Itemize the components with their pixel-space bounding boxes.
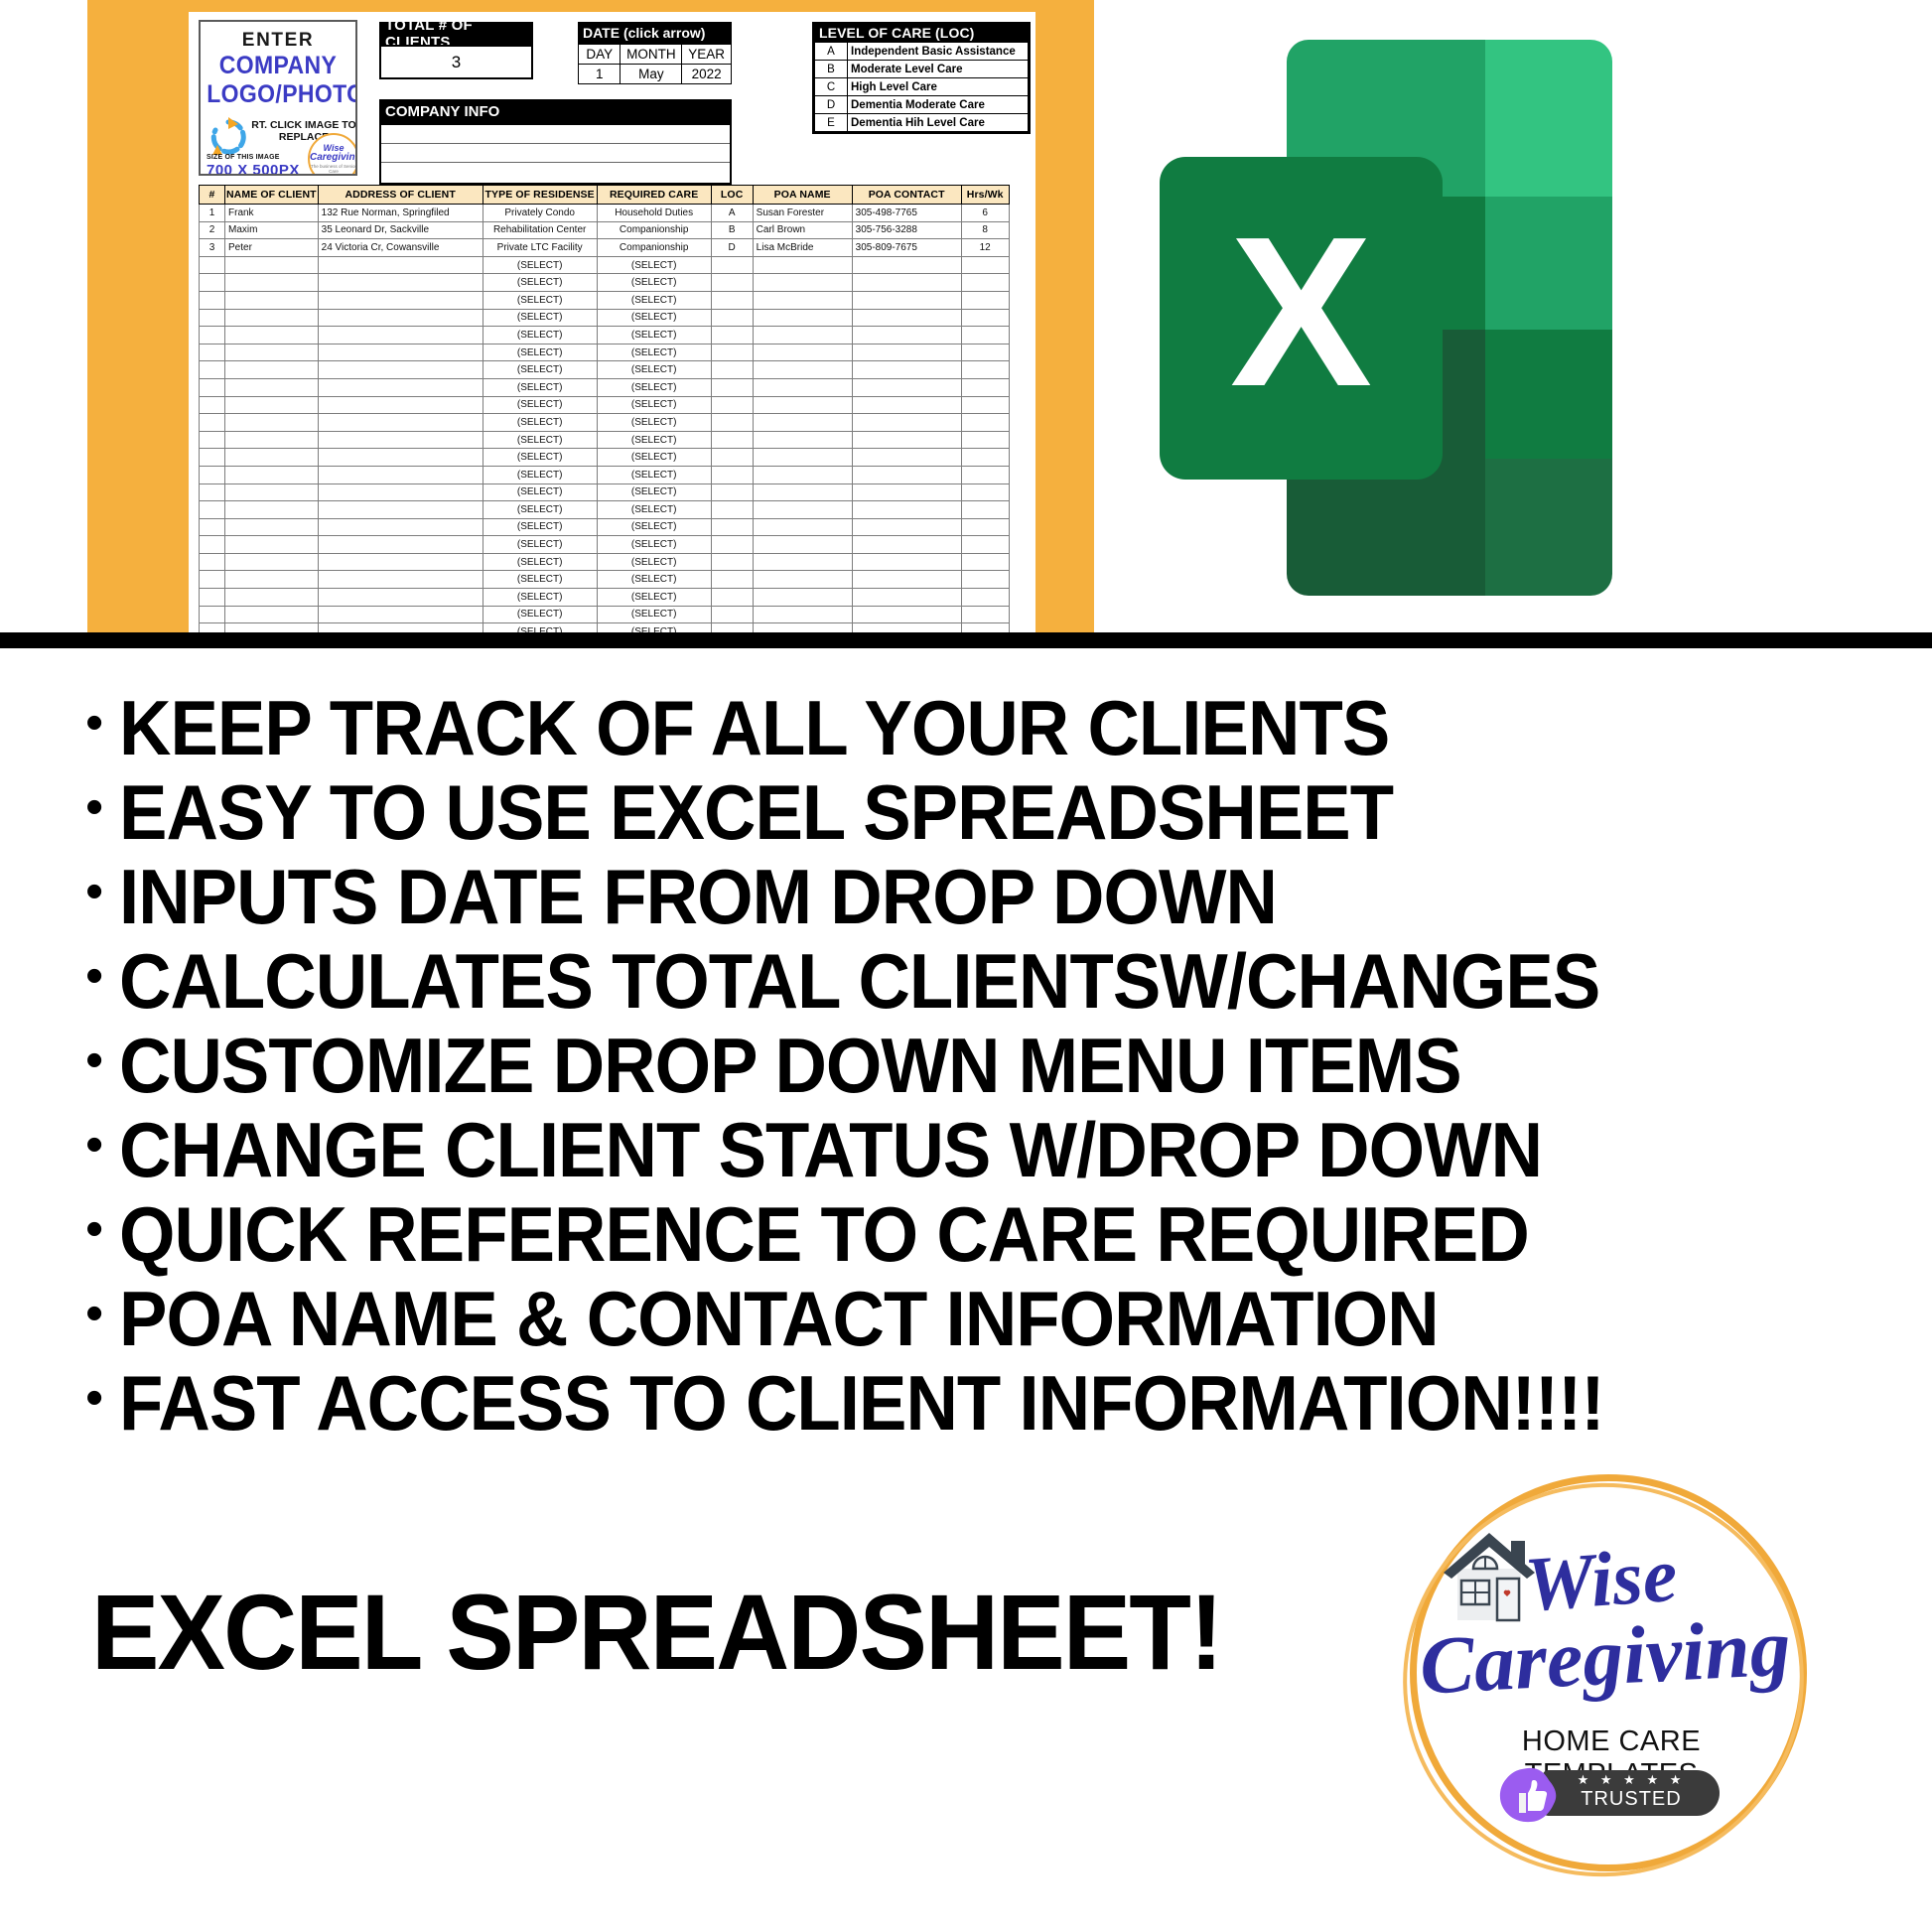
client-row-empty[interactable]: (SELECT)(SELECT) xyxy=(200,606,1010,623)
client-cell-empty[interactable] xyxy=(200,449,225,467)
client-cell-empty[interactable] xyxy=(753,291,852,309)
client-cell-select[interactable]: (SELECT) xyxy=(483,466,597,483)
client-cell-empty[interactable] xyxy=(200,344,225,361)
client-cell-empty[interactable] xyxy=(711,344,753,361)
bullet-marker-icon: • xyxy=(85,950,103,1002)
client-cell[interactable]: 35 Leonard Dr, Sackville xyxy=(318,221,483,239)
feature-bullet-text: EASY TO USE EXCEL SPREADSHEET xyxy=(119,773,1393,851)
client-cell-empty[interactable] xyxy=(753,256,852,274)
client-cell-select[interactable]: (SELECT) xyxy=(483,361,597,379)
client-cell-select[interactable]: (SELECT) xyxy=(597,431,711,449)
client-cell-select[interactable]: (SELECT) xyxy=(483,291,597,309)
company-info-header: COMPANY INFO xyxy=(379,99,732,123)
client-cell-empty[interactable] xyxy=(318,431,483,449)
client-cell-empty[interactable] xyxy=(961,449,1009,467)
client-cell-empty[interactable] xyxy=(711,483,753,501)
client-row-empty[interactable]: (SELECT)(SELECT) xyxy=(200,396,1010,414)
thumbs-up-icon xyxy=(1497,1767,1559,1823)
client-cell-empty[interactable] xyxy=(711,361,753,379)
client-cell-empty[interactable] xyxy=(318,309,483,327)
client-cell-empty[interactable] xyxy=(753,589,852,607)
client-cell-select[interactable]: (SELECT) xyxy=(483,606,597,623)
mini-brand-seal: Wise Caregiving The business of Senior C… xyxy=(308,133,357,176)
client-cell-empty[interactable] xyxy=(961,501,1009,519)
client-cell[interactable]: D xyxy=(711,239,753,257)
trusted-bar: ★ ★ ★ ★ ★ TRUSTED xyxy=(1543,1770,1720,1816)
client-cell[interactable]: Companionship xyxy=(597,239,711,257)
client-cell-empty[interactable] xyxy=(318,501,483,519)
client-cell-empty[interactable] xyxy=(225,327,319,345)
client-cell[interactable]: Rehabilitation Center xyxy=(483,221,597,239)
client-cell-select[interactable]: (SELECT) xyxy=(483,344,597,361)
client-cell-select[interactable]: (SELECT) xyxy=(483,378,597,396)
client-cell-select[interactable]: (SELECT) xyxy=(597,361,711,379)
bullet-marker-icon: • xyxy=(85,781,103,833)
total-clients-header: TOTAL # OF CLIENTS xyxy=(379,22,533,45)
client-cell[interactable]: Privately Condo xyxy=(483,205,597,222)
client-row-empty[interactable]: (SELECT)(SELECT) xyxy=(200,291,1010,309)
client-cell-empty[interactable] xyxy=(200,553,225,571)
bullet-marker-icon: • xyxy=(85,1035,103,1086)
client-cell-empty[interactable] xyxy=(961,309,1009,327)
client-cell-empty[interactable] xyxy=(318,396,483,414)
client-cell-select[interactable]: (SELECT) xyxy=(597,327,711,345)
client-cell-empty[interactable] xyxy=(753,449,852,467)
client-cell-select[interactable]: (SELECT) xyxy=(597,344,711,361)
client-cell-empty[interactable] xyxy=(318,571,483,589)
client-row[interactable]: 2Maxim35 Leonard Dr, SackvilleRehabilita… xyxy=(200,221,1010,239)
company-logo-placeholder[interactable]: ENTER COMPANY LOGO/PHOTO RT. CLICK IMAGE… xyxy=(199,20,357,176)
client-cell-select[interactable]: (SELECT) xyxy=(597,396,711,414)
client-cell-empty[interactable] xyxy=(961,378,1009,396)
client-cell-empty[interactable] xyxy=(961,344,1009,361)
client-cell-select[interactable]: (SELECT) xyxy=(483,571,597,589)
company-info-row[interactable] xyxy=(381,125,730,144)
client-cell-select[interactable]: (SELECT) xyxy=(483,553,597,571)
client-cell-empty[interactable] xyxy=(852,536,961,554)
client-row-empty[interactable]: (SELECT)(SELECT) xyxy=(200,327,1010,345)
client-cell[interactable]: Carl Brown xyxy=(753,221,852,239)
client-cell-select[interactable]: (SELECT) xyxy=(483,536,597,554)
client-cell-empty[interactable] xyxy=(200,571,225,589)
date-value-year[interactable]: 2022 xyxy=(682,65,732,84)
client-row[interactable]: 3Peter24 Victoria Cr, CowansvillePrivate… xyxy=(200,239,1010,257)
client-cell-select[interactable]: (SELECT) xyxy=(597,483,711,501)
date-panel-header: DATE (click arrow) xyxy=(578,22,732,44)
client-cell-select[interactable]: (SELECT) xyxy=(597,466,711,483)
client-cell[interactable]: 24 Victoria Cr, Cowansville xyxy=(318,239,483,257)
feature-bullet-text: INPUTS DATE FROM DROP DOWN xyxy=(119,858,1277,935)
client-cell-empty[interactable] xyxy=(200,327,225,345)
client-cell[interactable]: A xyxy=(711,205,753,222)
client-cell-empty[interactable] xyxy=(200,378,225,396)
client-cell-select[interactable]: (SELECT) xyxy=(483,431,597,449)
mini-seal-tagline: The business of Senior Care xyxy=(310,165,357,175)
date-value-day[interactable]: 1 xyxy=(579,65,621,84)
client-cell-empty[interactable] xyxy=(225,571,319,589)
client-cell-empty[interactable] xyxy=(318,466,483,483)
client-row-empty[interactable]: (SELECT)(SELECT) xyxy=(200,378,1010,396)
client-row-empty[interactable]: (SELECT)(SELECT) xyxy=(200,571,1010,589)
client-cell-select[interactable]: (SELECT) xyxy=(483,256,597,274)
date-value-month[interactable]: May xyxy=(621,65,682,84)
client-cell[interactable]: Companionship xyxy=(597,221,711,239)
client-cell-select[interactable]: (SELECT) xyxy=(597,501,711,519)
client-cell-empty[interactable] xyxy=(711,256,753,274)
excel-icon: X xyxy=(1160,40,1612,596)
client-cell-empty[interactable] xyxy=(961,431,1009,449)
client-cell-select[interactable]: (SELECT) xyxy=(597,291,711,309)
client-cell-empty[interactable] xyxy=(961,274,1009,292)
client-cell-empty[interactable] xyxy=(961,518,1009,536)
client-cell-empty[interactable] xyxy=(200,274,225,292)
client-row-empty[interactable]: (SELECT)(SELECT) xyxy=(200,431,1010,449)
client-cell-select[interactable]: (SELECT) xyxy=(483,501,597,519)
client-cell-empty[interactable] xyxy=(711,589,753,607)
client-cell-empty[interactable] xyxy=(852,431,961,449)
client-cell-empty[interactable] xyxy=(711,291,753,309)
client-cell-empty[interactable] xyxy=(318,553,483,571)
client-cell-empty[interactable] xyxy=(200,466,225,483)
client-cell-empty[interactable] xyxy=(852,606,961,623)
client-cell-empty[interactable] xyxy=(753,466,852,483)
client-col-header: NAME OF CLIENT xyxy=(225,186,319,205)
bullet-marker-icon: • xyxy=(85,1119,103,1171)
client-cell-select[interactable]: (SELECT) xyxy=(483,327,597,345)
loc-row: CHigh Level Care xyxy=(815,78,1029,96)
client-cell-empty[interactable] xyxy=(318,606,483,623)
client-cell-empty[interactable] xyxy=(852,449,961,467)
client-row-empty[interactable]: (SELECT)(SELECT) xyxy=(200,361,1010,379)
client-cell-empty[interactable] xyxy=(225,396,319,414)
client-cell-select[interactable]: (SELECT) xyxy=(483,414,597,432)
client-cell-empty[interactable] xyxy=(852,256,961,274)
client-cell-empty[interactable] xyxy=(753,483,852,501)
client-cell-empty[interactable] xyxy=(961,466,1009,483)
client-cell-empty[interactable] xyxy=(200,414,225,432)
client-cell-empty[interactable] xyxy=(753,327,852,345)
client-row-empty[interactable]: (SELECT)(SELECT) xyxy=(200,344,1010,361)
feature-bullet-item: •EASY TO USE EXCEL SPREADSHEET xyxy=(85,769,1872,854)
client-cell-empty[interactable] xyxy=(225,414,319,432)
client-cell-empty[interactable] xyxy=(961,291,1009,309)
client-row-empty[interactable]: (SELECT)(SELECT) xyxy=(200,466,1010,483)
loc-description: Dementia Hih Level Care xyxy=(848,114,1029,132)
loc-code: E xyxy=(815,114,848,132)
client-cell[interactable]: Frank xyxy=(225,205,319,222)
client-cell[interactable]: 8 xyxy=(961,221,1009,239)
client-cell-empty[interactable] xyxy=(753,606,852,623)
client-table-header-row: #NAME OF CLIENTADDRESS OF CLIENTTYPE OF … xyxy=(200,186,1010,205)
client-cell-empty[interactable] xyxy=(753,309,852,327)
client-cell[interactable]: B xyxy=(711,221,753,239)
client-cell-empty[interactable] xyxy=(852,466,961,483)
client-cell-empty[interactable] xyxy=(961,553,1009,571)
client-cell-empty[interactable] xyxy=(852,291,961,309)
client-cell-empty[interactable] xyxy=(852,518,961,536)
client-cell-select[interactable]: (SELECT) xyxy=(483,589,597,607)
date-panel-table: DAY MONTH YEAR 1 May 2022 xyxy=(578,44,732,84)
client-cell-empty[interactable] xyxy=(318,378,483,396)
client-cell-select[interactable]: (SELECT) xyxy=(483,483,597,501)
client-cell[interactable]: 132 Rue Norman, Springfiled xyxy=(318,205,483,222)
client-cell-empty[interactable] xyxy=(711,274,753,292)
client-cell-empty[interactable] xyxy=(711,501,753,519)
excel-icon-badge: X xyxy=(1160,157,1443,480)
client-cell-empty[interactable] xyxy=(200,431,225,449)
client-cell-empty[interactable] xyxy=(225,536,319,554)
client-cell-empty[interactable] xyxy=(711,378,753,396)
logo-size-value: 700 X 500PX xyxy=(207,162,300,176)
company-info-row[interactable] xyxy=(381,144,730,163)
client-cell-empty[interactable] xyxy=(225,344,319,361)
client-cell-empty[interactable] xyxy=(318,449,483,467)
bullet-marker-icon: • xyxy=(85,1288,103,1339)
trusted-seal: ★ ★ ★ ★ ★ TRUSTED xyxy=(1497,1767,1724,1819)
feature-bullet-item: •INPUTS DATE FROM DROP DOWN xyxy=(85,854,1872,938)
client-cell-empty[interactable] xyxy=(318,274,483,292)
client-cell-select[interactable]: (SELECT) xyxy=(597,518,711,536)
client-cell-select[interactable]: (SELECT) xyxy=(597,571,711,589)
client-cell-empty[interactable] xyxy=(200,396,225,414)
client-cell-empty[interactable] xyxy=(225,256,319,274)
client-cell-empty[interactable] xyxy=(225,553,319,571)
loc-code: B xyxy=(815,61,848,78)
client-cell-empty[interactable] xyxy=(961,536,1009,554)
client-cell-empty[interactable] xyxy=(318,483,483,501)
client-cell-empty[interactable] xyxy=(318,291,483,309)
client-cell-empty[interactable] xyxy=(753,378,852,396)
client-cell[interactable]: 305-498-7765 xyxy=(852,205,961,222)
trusted-stars: ★ ★ ★ ★ ★ xyxy=(1543,1772,1720,1788)
loc-description: Dementia Moderate Care xyxy=(848,96,1029,114)
client-cell-empty[interactable] xyxy=(318,414,483,432)
badge-word-caregiving: Caregiving xyxy=(1418,1606,1792,1707)
client-cell-select[interactable]: (SELECT) xyxy=(483,518,597,536)
excel-quad-bottom-right xyxy=(1485,330,1612,459)
client-cell-empty[interactable] xyxy=(753,501,852,519)
client-cell-empty[interactable] xyxy=(753,274,852,292)
client-cell-empty[interactable] xyxy=(852,344,961,361)
client-cell-empty[interactable] xyxy=(852,414,961,432)
client-cell[interactable]: Susan Forester xyxy=(753,205,852,222)
loc-row: DDementia Moderate Care xyxy=(815,96,1029,114)
client-cell-empty[interactable] xyxy=(225,291,319,309)
client-cell-empty[interactable] xyxy=(225,466,319,483)
client-cell-empty[interactable] xyxy=(318,518,483,536)
client-cell[interactable]: 305-809-7675 xyxy=(852,239,961,257)
client-col-header: REQUIRED CARE xyxy=(597,186,711,205)
company-info-body[interactable] xyxy=(379,123,732,185)
client-cell-empty[interactable] xyxy=(961,571,1009,589)
client-cell-empty[interactable] xyxy=(961,361,1009,379)
client-cell-select[interactable]: (SELECT) xyxy=(597,536,711,554)
feature-bullet-item: •QUICK REFERENCE TO CARE REQUIRED xyxy=(85,1191,1872,1276)
client-cell-empty[interactable] xyxy=(711,431,753,449)
client-cell-empty[interactable] xyxy=(852,327,961,345)
client-cell-select[interactable]: (SELECT) xyxy=(483,274,597,292)
client-cell-empty[interactable] xyxy=(753,344,852,361)
client-cell[interactable]: 6 xyxy=(961,205,1009,222)
client-table[interactable]: #NAME OF CLIENTADDRESS OF CLIENTTYPE OF … xyxy=(199,185,1010,641)
client-cell-empty[interactable] xyxy=(225,361,319,379)
loc-description: Moderate Level Care xyxy=(848,61,1029,78)
client-cell-empty[interactable] xyxy=(225,483,319,501)
client-cell-empty[interactable] xyxy=(200,291,225,309)
client-cell-empty[interactable] xyxy=(961,589,1009,607)
client-cell-empty[interactable] xyxy=(225,589,319,607)
client-cell-empty[interactable] xyxy=(225,431,319,449)
loc-code: D xyxy=(815,96,848,114)
client-cell-select[interactable]: (SELECT) xyxy=(483,449,597,467)
client-cell-empty[interactable] xyxy=(711,449,753,467)
client-cell-empty[interactable] xyxy=(852,571,961,589)
client-cell-empty[interactable] xyxy=(852,361,961,379)
client-cell-empty[interactable] xyxy=(225,274,319,292)
date-col-day: DAY xyxy=(579,45,621,65)
client-cell-empty[interactable] xyxy=(200,361,225,379)
client-cell-empty[interactable] xyxy=(711,466,753,483)
client-cell-select[interactable]: (SELECT) xyxy=(597,378,711,396)
client-cell-empty[interactable] xyxy=(753,518,852,536)
client-col-header: TYPE OF RESIDENSE xyxy=(483,186,597,205)
client-col-header: ADDRESS OF CLIENT xyxy=(318,186,483,205)
client-cell-select[interactable]: (SELECT) xyxy=(597,309,711,327)
client-cell-empty[interactable] xyxy=(200,536,225,554)
client-cell-empty[interactable] xyxy=(961,414,1009,432)
client-cell-empty[interactable] xyxy=(318,361,483,379)
client-cell-empty[interactable] xyxy=(753,414,852,432)
client-cell-empty[interactable] xyxy=(852,501,961,519)
client-row-empty[interactable]: (SELECT)(SELECT) xyxy=(200,518,1010,536)
client-cell-empty[interactable] xyxy=(961,327,1009,345)
client-cell[interactable]: 1 xyxy=(200,205,225,222)
client-cell-empty[interactable] xyxy=(753,431,852,449)
client-cell-empty[interactable] xyxy=(753,536,852,554)
company-info-row[interactable] xyxy=(381,163,730,182)
client-cell[interactable]: Private LTC Facility xyxy=(483,239,597,257)
client-cell-empty[interactable] xyxy=(961,396,1009,414)
client-cell-empty[interactable] xyxy=(200,589,225,607)
client-row-empty[interactable]: (SELECT)(SELECT) xyxy=(200,553,1010,571)
client-cell-empty[interactable] xyxy=(711,396,753,414)
client-row-empty[interactable]: (SELECT)(SELECT) xyxy=(200,589,1010,607)
client-cell[interactable]: 12 xyxy=(961,239,1009,257)
client-cell-empty[interactable] xyxy=(225,449,319,467)
client-cell-empty[interactable] xyxy=(753,361,852,379)
logo-enter-label: ENTER xyxy=(201,31,355,50)
total-clients-value: 3 xyxy=(379,45,533,79)
client-cell-select[interactable]: (SELECT) xyxy=(597,414,711,432)
bottom-title: EXCEL SPREADSHEET! xyxy=(91,1579,1221,1686)
client-cell-empty[interactable] xyxy=(318,536,483,554)
client-cell-empty[interactable] xyxy=(961,483,1009,501)
client-cell-empty[interactable] xyxy=(318,344,483,361)
client-cell-empty[interactable] xyxy=(711,309,753,327)
client-cell-select[interactable]: (SELECT) xyxy=(597,553,711,571)
logo-photo-label: LOGO/PHOTO xyxy=(207,81,349,107)
client-cell-empty[interactable] xyxy=(318,256,483,274)
client-row-empty[interactable]: (SELECT)(SELECT) xyxy=(200,256,1010,274)
client-cell-select[interactable]: (SELECT) xyxy=(597,274,711,292)
client-cell-empty[interactable] xyxy=(200,518,225,536)
client-cell-empty[interactable] xyxy=(961,256,1009,274)
client-cell-empty[interactable] xyxy=(852,483,961,501)
client-cell-empty[interactable] xyxy=(200,256,225,274)
client-cell[interactable]: Lisa McBride xyxy=(753,239,852,257)
client-cell-empty[interactable] xyxy=(225,378,319,396)
client-cell-select[interactable]: (SELECT) xyxy=(597,256,711,274)
client-row-empty[interactable]: (SELECT)(SELECT) xyxy=(200,274,1010,292)
client-cell-empty[interactable] xyxy=(200,501,225,519)
client-cell-empty[interactable] xyxy=(852,274,961,292)
client-cell-empty[interactable] xyxy=(753,553,852,571)
client-cell-select[interactable]: (SELECT) xyxy=(597,606,711,623)
client-row-empty[interactable]: (SELECT)(SELECT) xyxy=(200,309,1010,327)
client-cell-empty[interactable] xyxy=(318,589,483,607)
client-row[interactable]: 1Frank132 Rue Norman, SpringfiledPrivate… xyxy=(200,205,1010,222)
client-cell-empty[interactable] xyxy=(225,309,319,327)
client-cell-empty[interactable] xyxy=(852,553,961,571)
client-cell[interactable]: Maxim xyxy=(225,221,319,239)
client-cell-empty[interactable] xyxy=(753,571,852,589)
client-cell-empty[interactable] xyxy=(318,327,483,345)
client-row-empty[interactable]: (SELECT)(SELECT) xyxy=(200,414,1010,432)
client-row-empty[interactable]: (SELECT)(SELECT) xyxy=(200,501,1010,519)
client-cell[interactable]: 3 xyxy=(200,239,225,257)
feature-bullet-item: •CHANGE CLIENT STATUS W/DROP DOWN xyxy=(85,1107,1872,1191)
client-cell-empty[interactable] xyxy=(711,536,753,554)
client-cell-empty[interactable] xyxy=(711,518,753,536)
client-cell-empty[interactable] xyxy=(200,606,225,623)
client-cell-empty[interactable] xyxy=(225,501,319,519)
client-cell[interactable]: 2 xyxy=(200,221,225,239)
client-cell[interactable]: Peter xyxy=(225,239,319,257)
client-cell-empty[interactable] xyxy=(711,553,753,571)
client-cell-empty[interactable] xyxy=(852,589,961,607)
client-cell-empty[interactable] xyxy=(711,606,753,623)
feature-bullet-item: •POA NAME & CONTACT INFORMATION xyxy=(85,1276,1872,1360)
refresh-image-icon xyxy=(207,115,250,159)
client-cell-empty[interactable] xyxy=(711,327,753,345)
client-cell-empty[interactable] xyxy=(711,414,753,432)
client-cell-empty[interactable] xyxy=(852,378,961,396)
client-cell-select[interactable]: (SELECT) xyxy=(483,396,597,414)
client-cell-empty[interactable] xyxy=(225,518,319,536)
wise-caregiving-badge: Wise Caregiving HOME CARE TEMPLATES ★ ★ … xyxy=(1390,1469,1827,1886)
client-cell[interactable]: 305-756-3288 xyxy=(852,221,961,239)
client-cell-empty[interactable] xyxy=(711,571,753,589)
client-cell-empty[interactable] xyxy=(852,309,961,327)
client-row-empty[interactable]: (SELECT)(SELECT) xyxy=(200,536,1010,554)
client-cell-empty[interactable] xyxy=(200,483,225,501)
client-cell-empty[interactable] xyxy=(753,396,852,414)
client-cell-empty[interactable] xyxy=(961,606,1009,623)
loc-description: Independent Basic Assistance xyxy=(848,43,1029,61)
client-row-empty[interactable]: (SELECT)(SELECT) xyxy=(200,483,1010,501)
client-cell-empty[interactable] xyxy=(225,606,319,623)
level-of-care-table: AIndependent Basic AssistanceBModerate L… xyxy=(814,42,1029,132)
client-cell-select[interactable]: (SELECT) xyxy=(597,449,711,467)
client-cell[interactable]: Household Duties xyxy=(597,205,711,222)
client-cell-empty[interactable] xyxy=(200,309,225,327)
client-cell-empty[interactable] xyxy=(852,396,961,414)
client-col-header: # xyxy=(200,186,225,205)
client-cell-select[interactable]: (SELECT) xyxy=(483,309,597,327)
client-row-empty[interactable]: (SELECT)(SELECT) xyxy=(200,449,1010,467)
client-cell-select[interactable]: (SELECT) xyxy=(597,589,711,607)
feature-bullet-text: FAST ACCESS TO CLIENT INFORMATION!!!! xyxy=(119,1364,1604,1442)
